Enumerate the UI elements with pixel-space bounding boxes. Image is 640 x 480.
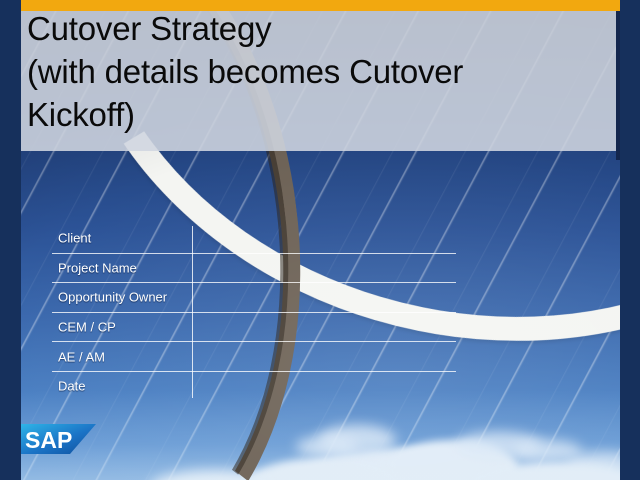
title-line-3: Kickoff)	[27, 93, 612, 136]
title-line-2: (with details becomes Cutover	[27, 50, 612, 93]
table-vertical-divider	[192, 226, 193, 398]
table-row: Project Name	[52, 254, 456, 284]
table-row: CEM / CP	[52, 313, 456, 343]
project-info-table: Client Project Name Opportunity Owner CE…	[52, 224, 456, 401]
presentation-slide: Client Project Name Opportunity Owner CE…	[0, 0, 640, 480]
sap-logo: SAP	[20, 424, 96, 454]
table-row: Opportunity Owner	[52, 283, 456, 313]
sap-logo-text: SAP	[25, 427, 72, 453]
accent-bar	[21, 0, 620, 11]
field-label-project-name: Project Name	[58, 260, 137, 275]
sap-logo-icon: SAP	[20, 424, 96, 454]
field-label-date: Date	[58, 379, 85, 394]
field-label-opportunity-owner: Opportunity Owner	[58, 290, 167, 305]
slide-frame-left	[0, 0, 21, 480]
slide-frame-right-edge	[616, 0, 620, 160]
table-row: Date	[52, 372, 456, 401]
table-row: AE / AM	[52, 342, 456, 372]
page-title: Cutover Strategy (with details becomes C…	[27, 7, 612, 136]
field-label-cem-cp: CEM / CP	[58, 320, 116, 335]
field-label-client: Client	[58, 231, 91, 246]
slide-frame-right	[620, 0, 640, 480]
title-line-1: Cutover Strategy	[27, 7, 612, 50]
field-label-ae-am: AE / AM	[58, 349, 105, 364]
table-row: Client	[52, 224, 456, 254]
